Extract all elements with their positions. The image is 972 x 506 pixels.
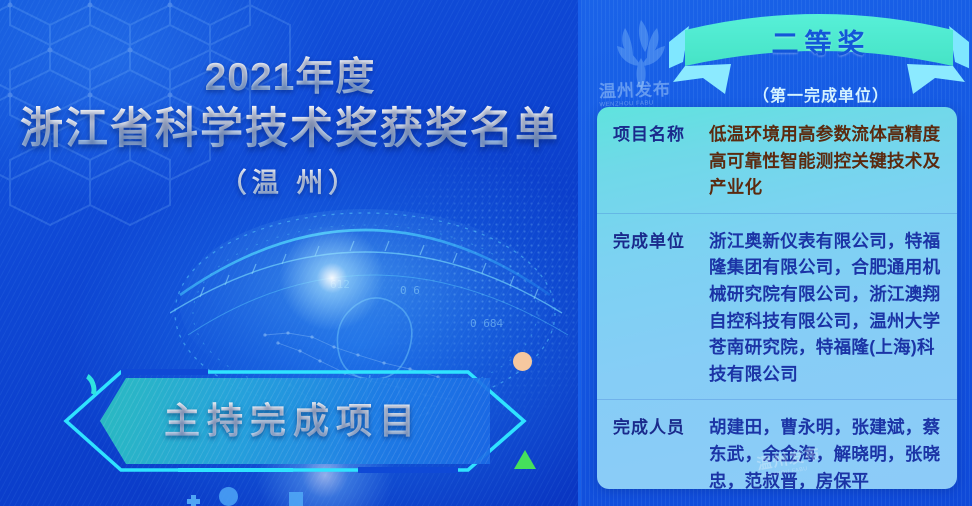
panel-divider (578, 0, 581, 506)
award-level-label: 二等奖 (679, 22, 963, 61)
watermark-text: 温州发布 WENZHOU FABU (598, 75, 671, 108)
award-info-card: 项目名称 低温环境用高参数流体高精度高可靠性智能测控关键技术及产业化 完成单位 … (597, 107, 957, 489)
poster-headline: 2021年度 浙江省科学技术奖获奖名单 （温 州） (0, 56, 580, 200)
svg-text:612: 612 (330, 278, 350, 291)
page-title: 浙江省科学技术奖获奖名单 (0, 104, 580, 156)
watermark-label: 温州发布 (599, 80, 672, 102)
blue-dot-icon (219, 487, 238, 506)
row-value: 胡建田，曹永明，张建斌，蔡东武，余金海，解晓明，张晓忠，范叔晋，房保平 (709, 414, 941, 489)
row-label: 项目名称 (613, 121, 709, 201)
info-row-project-name: 项目名称 低温环境用高参数流体高精度高可靠性智能测控关键技术及产业化 (597, 107, 957, 213)
row-value: 低温环境用高参数流体高精度高可靠性智能测控关键技术及产业化 (709, 121, 941, 201)
blue-square-icon (289, 492, 303, 506)
plus-icon (187, 495, 200, 506)
award-note-label: （第一完成单位） (679, 82, 963, 106)
section-banner: 主持完成项目 (58, 368, 528, 474)
svg-text:0 684: 0 684 (470, 317, 503, 330)
headline-region: （温 州） (0, 161, 580, 200)
green-triangle-icon (514, 450, 536, 469)
headline-year: 2021年度 (0, 56, 580, 100)
orange-dot-icon (513, 352, 532, 371)
row-label: 完成单位 (613, 228, 709, 388)
poster-canvas: 612 0 6 0 684 (0, 0, 972, 506)
info-row-units: 完成单位 浙江奥新仪表有限公司，特福隆集团有限公司，合肥通用机械研究院有限公司，… (597, 213, 957, 400)
left-hero-panel: 612 0 6 0 684 (0, 0, 580, 506)
row-value: 浙江奥新仪表有限公司，特福隆集团有限公司，合肥通用机械研究院有限公司，浙江澳翔自… (709, 228, 941, 388)
banner-label: 主持完成项目 (58, 392, 528, 444)
right-info-panel: 温州发布 WENZHOU FABU 二等奖 （第一完成单位） 项目名称 低温环境… (581, 0, 972, 506)
svg-text:0 6: 0 6 (400, 284, 420, 297)
row-label: 完成人员 (613, 414, 709, 489)
